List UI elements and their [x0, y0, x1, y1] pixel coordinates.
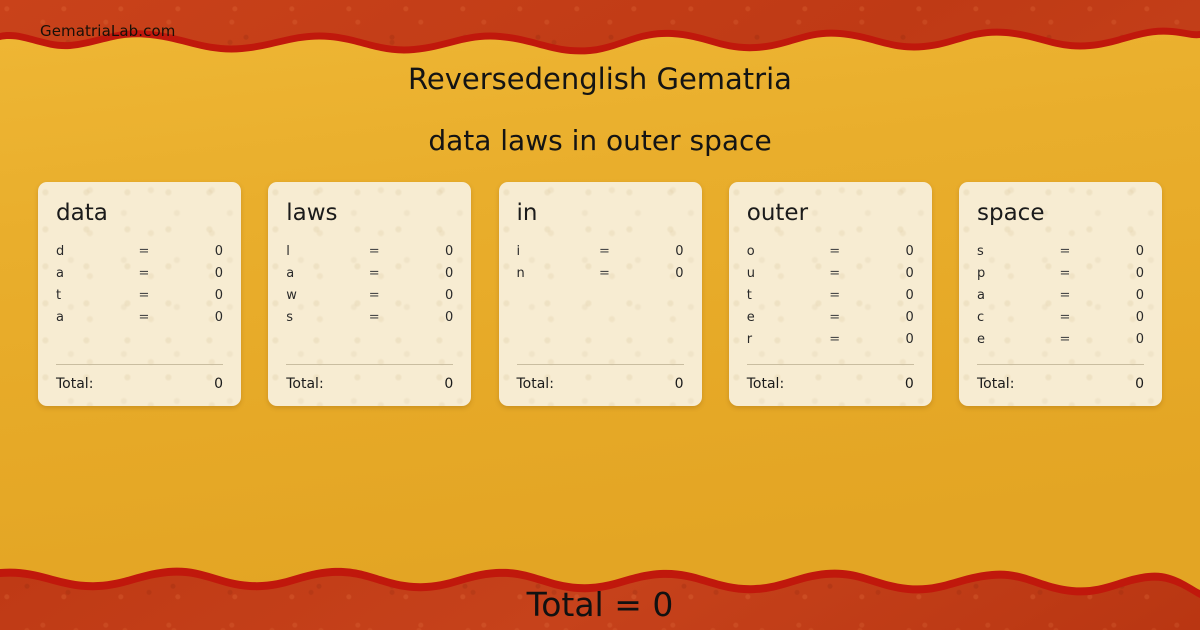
word-card: data d = 0 a = 0 t = 0 a	[38, 182, 241, 406]
letter-row: e = 0	[747, 310, 914, 332]
letter-row: e = 0	[977, 332, 1144, 354]
letter-value: 0	[853, 244, 914, 259]
card-total-value: 0	[214, 376, 223, 392]
equals-sign: =	[1047, 266, 1083, 281]
letter-row: l = 0	[286, 244, 453, 266]
letter-value-list: i = 0 n = 0	[517, 244, 684, 354]
grand-total: Total = 0	[0, 585, 1200, 624]
letter-glyph: s	[286, 310, 356, 325]
letter-glyph: e	[977, 332, 1047, 347]
phrase-subtitle: data laws in outer space	[0, 124, 1200, 157]
site-watermark[interactable]: GematriaLab.com	[40, 22, 175, 40]
card-total-row: Total: 0	[56, 376, 223, 392]
card-total-row: Total: 0	[747, 376, 914, 392]
letter-row: a = 0	[56, 310, 223, 332]
card-total-label: Total:	[286, 376, 444, 392]
letter-glyph: t	[56, 288, 126, 303]
letter-row: t = 0	[56, 288, 223, 310]
letter-value: 0	[853, 288, 914, 303]
equals-sign: =	[356, 310, 392, 325]
letter-value: 0	[162, 244, 223, 259]
letter-row: s = 0	[977, 244, 1144, 266]
letter-value-list: s = 0 p = 0 a = 0 c = 0	[977, 244, 1144, 354]
letter-row: t = 0	[747, 288, 914, 310]
letter-row: a = 0	[977, 288, 1144, 310]
equals-sign: =	[587, 266, 623, 281]
equals-sign: =	[1047, 244, 1083, 259]
letter-glyph: d	[56, 244, 126, 259]
letter-glyph: l	[286, 244, 356, 259]
card-divider	[747, 364, 914, 365]
equals-sign: =	[356, 266, 392, 281]
letter-glyph: a	[977, 288, 1047, 303]
word-card: laws l = 0 a = 0 w = 0 s	[268, 182, 471, 406]
word-card: space s = 0 p = 0 a = 0 c	[959, 182, 1162, 406]
equals-sign: =	[126, 288, 162, 303]
card-total-label: Total:	[747, 376, 905, 392]
word-card: in i = 0 n = 0 Total: 0	[499, 182, 702, 406]
letter-glyph: a	[56, 310, 126, 325]
word-card-list: data d = 0 a = 0 t = 0 a	[38, 182, 1162, 406]
equals-sign: =	[587, 244, 623, 259]
card-total-row: Total: 0	[286, 376, 453, 392]
card-total-label: Total:	[977, 376, 1135, 392]
equals-sign: =	[126, 244, 162, 259]
card-total-value: 0	[905, 376, 914, 392]
letter-row: d = 0	[56, 244, 223, 266]
gematria-result-card: GematriaLab.com Reversedenglish Gematria…	[0, 0, 1200, 630]
card-divider	[977, 364, 1144, 365]
letter-row: i = 0	[517, 244, 684, 266]
equals-sign: =	[1047, 288, 1083, 303]
letter-row: w = 0	[286, 288, 453, 310]
equals-sign: =	[356, 244, 392, 259]
card-divider	[286, 364, 453, 365]
card-divider	[56, 364, 223, 365]
letter-value: 0	[392, 288, 453, 303]
letter-glyph: r	[747, 332, 817, 347]
letter-glyph: w	[286, 288, 356, 303]
card-word-title: in	[517, 202, 684, 225]
letter-glyph: t	[747, 288, 817, 303]
card-total-label: Total:	[517, 376, 675, 392]
card-word-title: space	[977, 202, 1144, 225]
equals-sign: =	[817, 288, 853, 303]
letter-glyph: a	[56, 266, 126, 281]
letter-glyph: i	[517, 244, 587, 259]
letter-glyph: u	[747, 266, 817, 281]
letter-row: s = 0	[286, 310, 453, 332]
letter-glyph: o	[747, 244, 817, 259]
card-total-value: 0	[1135, 376, 1144, 392]
letter-value: 0	[162, 288, 223, 303]
letter-value: 0	[392, 310, 453, 325]
card-total-value: 0	[675, 376, 684, 392]
card-word-title: laws	[286, 202, 453, 225]
letter-glyph: a	[286, 266, 356, 281]
letter-value: 0	[1083, 244, 1144, 259]
letter-value-list: o = 0 u = 0 t = 0 e = 0	[747, 244, 914, 354]
letter-value: 0	[853, 310, 914, 325]
letter-row: a = 0	[56, 266, 223, 288]
equals-sign: =	[356, 288, 392, 303]
letter-value-list: l = 0 a = 0 w = 0 s = 0	[286, 244, 453, 354]
letter-glyph: p	[977, 266, 1047, 281]
letter-value: 0	[853, 266, 914, 281]
letter-glyph: e	[747, 310, 817, 325]
card-word-title: data	[56, 202, 223, 225]
letter-row: u = 0	[747, 266, 914, 288]
letter-value: 0	[623, 266, 684, 281]
letter-value: 0	[1083, 332, 1144, 347]
letter-value: 0	[392, 266, 453, 281]
equals-sign: =	[126, 310, 162, 325]
letter-value: 0	[1083, 310, 1144, 325]
page-title: Reversedenglish Gematria	[0, 62, 1200, 96]
equals-sign: =	[817, 310, 853, 325]
equals-sign: =	[1047, 310, 1083, 325]
card-total-row: Total: 0	[977, 376, 1144, 392]
letter-value: 0	[853, 332, 914, 347]
letter-value: 0	[623, 244, 684, 259]
letter-value: 0	[1083, 266, 1144, 281]
letter-value: 0	[392, 244, 453, 259]
equals-sign: =	[817, 332, 853, 347]
card-divider	[517, 364, 684, 365]
card-total-label: Total:	[56, 376, 214, 392]
letter-value: 0	[1083, 288, 1144, 303]
letter-value-list: d = 0 a = 0 t = 0 a = 0	[56, 244, 223, 354]
letter-row: n = 0	[517, 266, 684, 288]
card-total-row: Total: 0	[517, 376, 684, 392]
equals-sign: =	[817, 244, 853, 259]
card-total-value: 0	[444, 376, 453, 392]
letter-glyph: c	[977, 310, 1047, 325]
letter-glyph: n	[517, 266, 587, 281]
letter-row: a = 0	[286, 266, 453, 288]
equals-sign: =	[126, 266, 162, 281]
letter-glyph: s	[977, 244, 1047, 259]
letter-row: p = 0	[977, 266, 1144, 288]
letter-row: c = 0	[977, 310, 1144, 332]
letter-value: 0	[162, 266, 223, 281]
letter-row: o = 0	[747, 244, 914, 266]
equals-sign: =	[1047, 332, 1083, 347]
equals-sign: =	[817, 266, 853, 281]
card-word-title: outer	[747, 202, 914, 225]
letter-value: 0	[162, 310, 223, 325]
letter-row: r = 0	[747, 332, 914, 354]
word-card: outer o = 0 u = 0 t = 0 e	[729, 182, 932, 406]
